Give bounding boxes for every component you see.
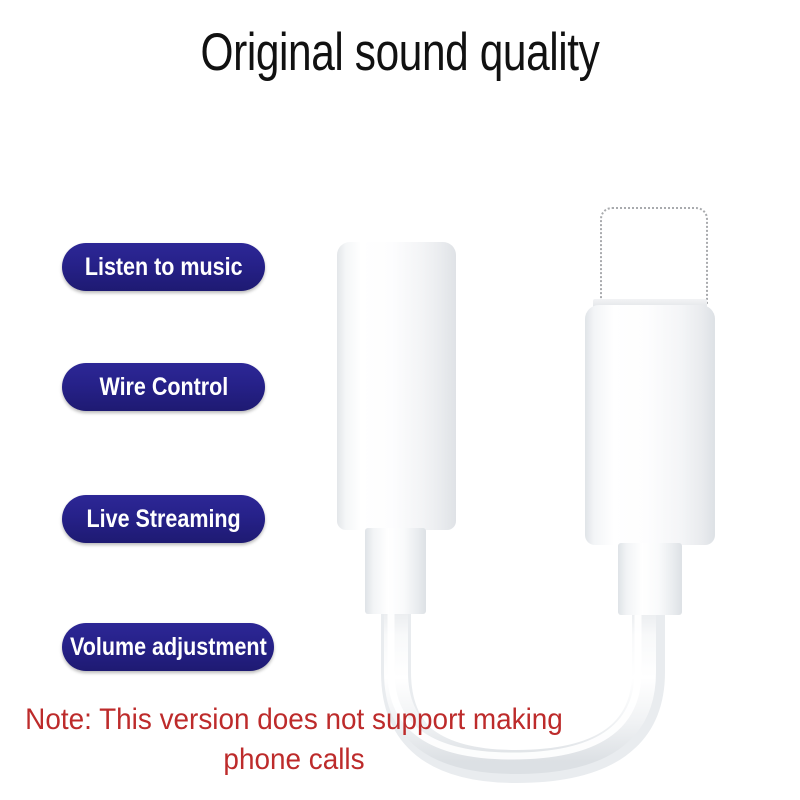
feature-badge-volume-adjustment: Volume adjustment (62, 623, 274, 671)
jack-strain-relief (365, 528, 426, 614)
feature-badge-label: Listen to music (85, 255, 243, 280)
lightning-connector-body (585, 305, 715, 545)
lightning-contacts (593, 299, 707, 308)
feature-badge-label: Live Streaming (86, 507, 240, 532)
feature-badge-listen-to-music: Listen to music (62, 243, 265, 291)
feature-badge-label: Volume adjustment (70, 635, 267, 660)
lightning-strain-relief (618, 543, 682, 615)
headphone-jack-connector (337, 242, 456, 530)
feature-badge-live-streaming: Live Streaming (62, 495, 265, 543)
page-title: Original sound quality (80, 22, 720, 83)
disclaimer-note: Note: This version does not support maki… (21, 700, 568, 779)
lightning-tip-outline-icon (600, 207, 708, 305)
feature-badge-label: Wire Control (99, 375, 228, 400)
feature-badge-wire-control: Wire Control (62, 363, 265, 411)
product-image-canvas: Original sound quality (0, 0, 800, 800)
